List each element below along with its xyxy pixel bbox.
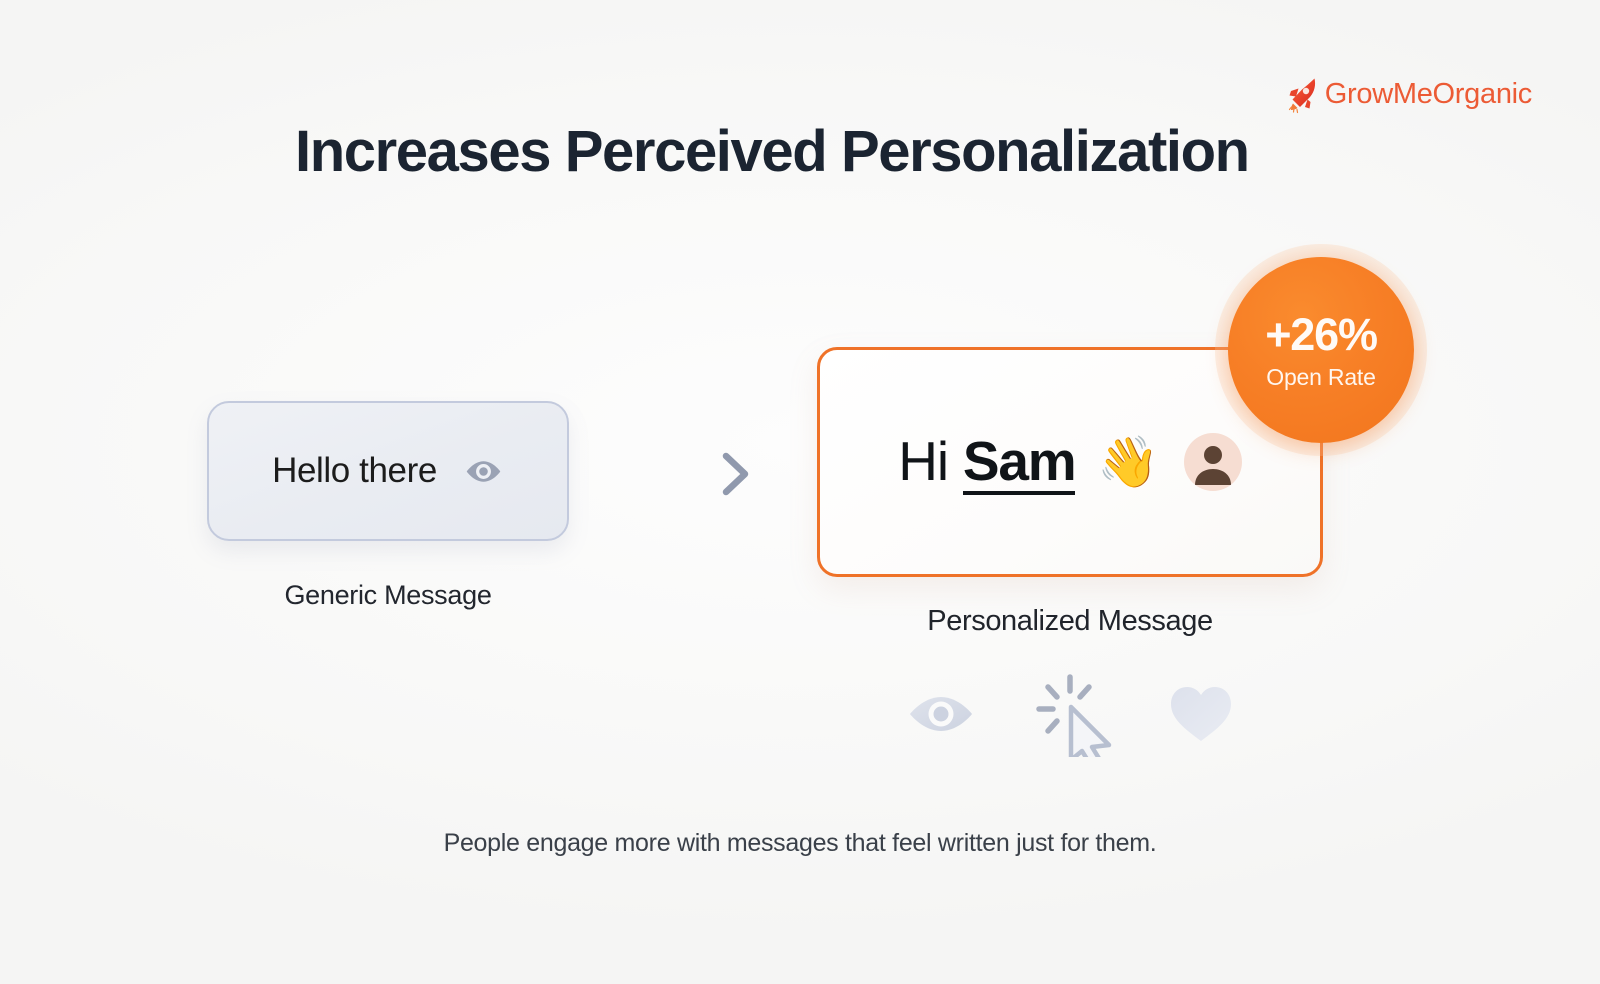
heart-icon (1167, 683, 1235, 745)
generic-message-card[interactable]: Hello there (207, 401, 569, 541)
open-rate-value: +26% (1265, 312, 1377, 357)
page-title: Increases Perceived Personalization (295, 118, 1249, 185)
waving-hand-icon: 👋 (1097, 437, 1159, 487)
generic-message-caption: Generic Message (207, 580, 569, 611)
rocket-icon (1285, 74, 1321, 114)
eye-icon (905, 684, 977, 744)
brand-logo: GrowMeOrganic (1285, 74, 1532, 114)
eye-icon (463, 451, 504, 492)
arrow-right-icon (640, 443, 760, 505)
personalized-message-caption: Personalized Message (817, 605, 1323, 638)
click-cursor-icon (1031, 671, 1113, 757)
open-rate-badge: +26% Open Rate (1215, 244, 1427, 456)
brand-name: GrowMeOrganic (1325, 78, 1532, 111)
greeting-word: Hi (898, 429, 948, 493)
footer-note: People engage more with messages that fe… (0, 829, 1600, 858)
generic-message-text: Hello there (272, 451, 437, 491)
open-rate-badge-core: +26% Open Rate (1228, 257, 1414, 443)
slide-canvas: GrowMeOrganic Increases Perceived Person… (0, 0, 1600, 984)
person-avatar-icon (1184, 433, 1242, 491)
personalized-greeting: Hi Sam (898, 429, 1075, 494)
greeting-name: Sam (963, 435, 1076, 494)
generic-message-block: Hello there Generic Message (207, 401, 569, 611)
engagement-icon-row (905, 671, 1235, 757)
open-rate-label: Open Rate (1266, 366, 1375, 389)
